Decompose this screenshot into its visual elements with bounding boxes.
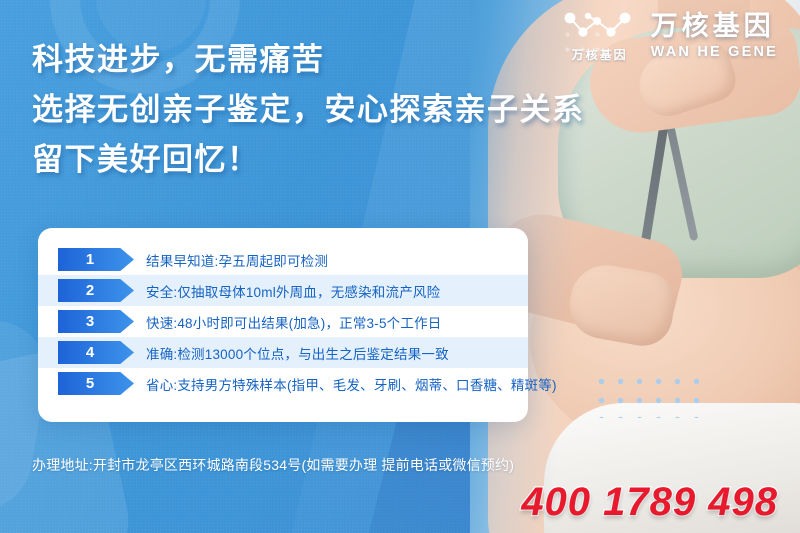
feature-row-2: 2 安全:仅抽取母体10ml外周血，无感染和流产风险 xyxy=(38,275,528,306)
feature-badge-5: 5 xyxy=(58,372,134,395)
feature-row-4: 4 准确:检测13000个位点，与出生之后鉴定结果一致 xyxy=(38,337,528,368)
feature-row-5: 5 省心:支持男方特殊样本(指甲、毛发、牙刷、烟蒂、口香糖、精斑等) xyxy=(38,368,528,399)
logo-mark-label: 万核基因 xyxy=(572,46,628,63)
poster-canvas: 万核基因 万核基因 WAN HE GENE 科技进步，无需痛苦 选择无创亲子鉴定… xyxy=(0,0,800,533)
logo-wordmark: 万核基因 WAN HE GENE xyxy=(651,13,778,60)
headline-line-3: 留下美好回忆！ xyxy=(32,144,585,175)
logo-name-en: WAN HE GENE xyxy=(651,45,778,60)
office-address: 办理地址:开封市龙亭区西环城路南段534号(如需要办理 提前电话或微信预约) xyxy=(32,455,514,475)
feature-text-1: 结果早知道:孕五周起即可检测 xyxy=(146,250,328,270)
feature-badge-1: 1 xyxy=(58,248,134,271)
headline-line-2: 选择无创亲子鉴定，安心探索亲子关系 xyxy=(32,94,585,125)
feature-badge-4: 4 xyxy=(58,341,134,364)
feature-row-3: 3 快速:48小时即可出结果(加急)，正常3-5个工作日 xyxy=(38,306,528,337)
feature-badge-3: 3 xyxy=(58,310,134,333)
brand-logo: 万核基因 万核基因 WAN HE GENE xyxy=(561,10,778,63)
headline-line-1: 科技进步，无需痛苦 xyxy=(32,44,585,75)
headline-block: 科技进步，无需痛苦 选择无创亲子鉴定，安心探索亲子关系 留下美好回忆！ xyxy=(32,44,585,175)
logo-name-cn: 万核基因 xyxy=(651,13,778,40)
molecule-icon xyxy=(561,10,639,44)
feature-text-2: 安全:仅抽取母体10ml外周血，无感染和流产风险 xyxy=(146,281,440,301)
logo-mark: 万核基因 xyxy=(561,10,639,63)
feature-badge-2: 2 xyxy=(58,279,134,302)
feature-text-3: 快速:48小时即可出结果(加急)，正常3-5个工作日 xyxy=(146,312,441,332)
dot-grid-decoration xyxy=(592,372,700,418)
feature-row-1: 1 结果早知道:孕五周起即可检测 xyxy=(38,244,528,275)
features-card: 1 结果早知道:孕五周起即可检测 2 安全:仅抽取母体10ml外周血，无感染和流… xyxy=(38,228,528,422)
feature-text-5: 省心:支持男方特殊样本(指甲、毛发、牙刷、烟蒂、口香糖、精斑等) xyxy=(146,374,557,394)
hotline-phone-number[interactable]: 400 1789 498 xyxy=(521,480,778,525)
feature-text-4: 准确:检测13000个位点，与出生之后鉴定结果一致 xyxy=(146,343,449,363)
